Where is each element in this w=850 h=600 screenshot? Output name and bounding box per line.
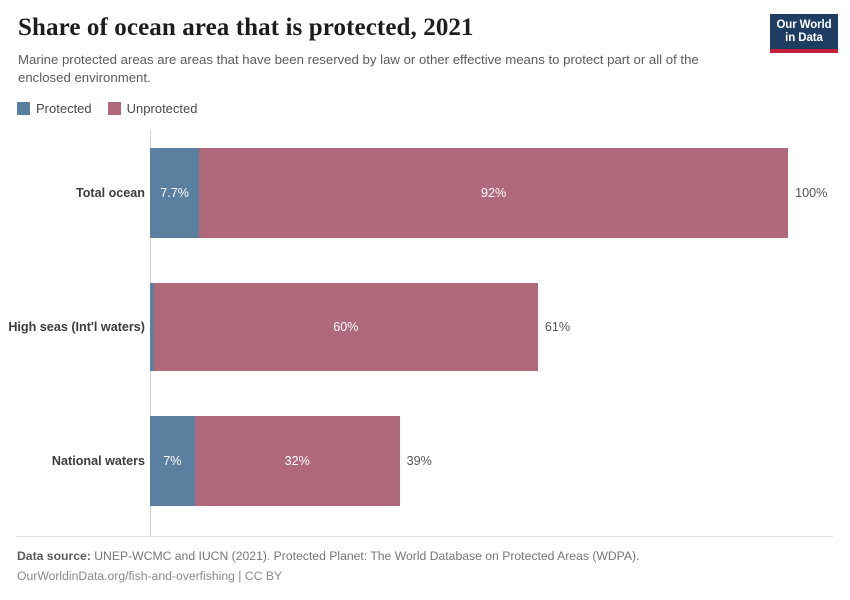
owid-logo-line-2: in Data: [770, 32, 838, 45]
bar-segment-protected[interactable]: 7%: [150, 416, 195, 506]
bar-segment-value: 92%: [481, 186, 506, 200]
footer-source-line: Data source: UNEP-WCMC and IUCN (2021). …: [17, 546, 817, 566]
footer-source-label: Data source:: [17, 549, 91, 563]
bar-total-label: 39%: [407, 454, 432, 468]
bar-track: 7%32%: [150, 416, 400, 506]
bar-total-label: 61%: [545, 320, 570, 334]
chart-footer: Data source: UNEP-WCMC and IUCN (2021). …: [17, 546, 817, 586]
bar-segment-unprotected[interactable]: 32%: [195, 416, 400, 506]
bar-category-label: High seas (Int'l waters): [0, 320, 145, 334]
bar-segment-value: 32%: [285, 454, 310, 468]
bar-category-label: National waters: [0, 454, 145, 468]
chart-legend: ProtectedUnprotected: [17, 101, 197, 116]
legend-item-unprotected[interactable]: Unprotected: [108, 101, 198, 116]
bar-segment-value: 60%: [333, 320, 358, 334]
bar-row[interactable]: National waters7%32%39%: [0, 416, 850, 506]
legend-swatch-icon: [108, 102, 121, 115]
chart-subtitle: Marine protected areas are areas that ha…: [18, 51, 746, 88]
bar-total-label: 100%: [795, 186, 827, 200]
plot-area: Total ocean7.7%92%100%High seas (Int'l w…: [0, 128, 850, 538]
bar-category-label: Total ocean: [0, 186, 145, 200]
bar-segment-value: 7.7%: [160, 186, 189, 200]
legend-item-label: Unprotected: [127, 101, 198, 116]
legend-item-protected[interactable]: Protected: [17, 101, 92, 116]
footer-divider: [17, 536, 833, 537]
footer-source-text: UNEP-WCMC and IUCN (2021). Protected Pla…: [91, 549, 640, 563]
bar-segment-value: 7%: [163, 454, 181, 468]
bar-track: 0.6%60%: [150, 283, 538, 371]
legend-swatch-icon: [17, 102, 30, 115]
bar-segment-unprotected[interactable]: 92%: [199, 148, 788, 238]
chart-root: Share of ocean area that is protected, 2…: [0, 0, 850, 600]
bar-row[interactable]: Total ocean7.7%92%100%: [0, 148, 850, 238]
legend-item-label: Protected: [36, 101, 92, 116]
page-title: Share of ocean area that is protected, 2…: [18, 14, 748, 43]
bar-segment-unprotected[interactable]: 60%: [154, 283, 538, 371]
bar-segment-protected[interactable]: 7.7%: [150, 148, 199, 238]
owid-logo-line-1: Our World: [770, 19, 838, 32]
owid-logo-accent-bar: [770, 49, 838, 53]
chart-header: Share of ocean area that is protected, 2…: [18, 14, 748, 88]
bar-row[interactable]: High seas (Int'l waters)0.6%60%61%: [0, 283, 850, 371]
bar-track: 7.7%92%: [150, 148, 788, 238]
owid-logo[interactable]: Our World in Data: [770, 14, 838, 53]
footer-url-line[interactable]: OurWorldinData.org/fish-and-overfishing …: [17, 566, 817, 586]
